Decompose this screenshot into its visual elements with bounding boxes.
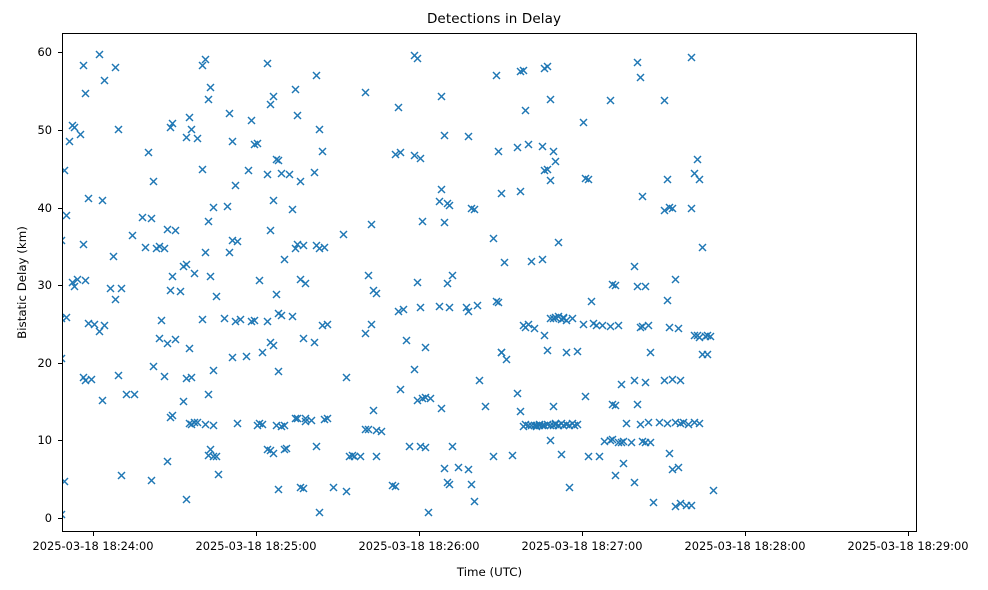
data-point [619, 459, 628, 468]
data-point [519, 66, 528, 75]
data-point [687, 53, 696, 62]
data-point [470, 497, 479, 506]
data-point [611, 471, 620, 480]
data-point [413, 54, 422, 63]
data-point [391, 482, 400, 491]
data-point [223, 202, 232, 211]
data-point [421, 343, 430, 352]
data-point [299, 484, 308, 493]
data-point [296, 483, 305, 492]
data-point [114, 371, 123, 380]
data-point [440, 131, 449, 140]
data-point [315, 244, 324, 253]
data-point [581, 174, 590, 183]
y-tick-mark [58, 52, 62, 53]
data-point [559, 314, 568, 323]
data-point [497, 348, 506, 357]
data-point [674, 463, 683, 472]
data-point [315, 125, 324, 134]
data-point [198, 61, 207, 70]
data-point [513, 143, 522, 152]
data-point [500, 258, 509, 267]
data-point [437, 404, 446, 413]
data-point [65, 137, 74, 146]
data-point [272, 155, 281, 164]
y-tick-mark [58, 440, 62, 441]
data-point [209, 452, 218, 461]
data-point [291, 414, 300, 423]
data-point [413, 396, 422, 405]
data-point [201, 420, 210, 429]
data-point [307, 416, 316, 425]
data-point [638, 437, 647, 446]
data-point [676, 419, 685, 428]
y-tick-mark [58, 285, 62, 286]
data-point [445, 303, 454, 312]
data-point [288, 312, 297, 321]
data-point [114, 125, 123, 134]
data-point [209, 421, 218, 430]
data-point [209, 366, 218, 375]
data-point [665, 323, 674, 332]
matplotlib-figure: Detections in Delay 2025-03-18 18:24:002… [0, 0, 988, 590]
data-point [443, 279, 452, 288]
data-point [250, 316, 259, 325]
data-point [630, 478, 639, 487]
data-point [282, 444, 291, 453]
data-point [581, 392, 590, 401]
data-point [587, 297, 596, 306]
data-point [100, 76, 109, 85]
data-point [274, 156, 283, 165]
data-point [258, 348, 267, 357]
data-point [497, 348, 506, 357]
data-point [166, 413, 175, 422]
data-point [79, 373, 88, 382]
data-point [62, 236, 66, 245]
x-tick-mark [582, 532, 583, 536]
data-point [416, 303, 425, 312]
data-point [638, 192, 647, 201]
data-point [492, 71, 501, 80]
data-point [646, 348, 655, 357]
data-point [606, 96, 615, 105]
data-point [293, 414, 302, 423]
data-point [350, 452, 359, 461]
data-point [559, 421, 568, 430]
data-point [291, 85, 300, 94]
data-point [179, 397, 188, 406]
data-point [682, 501, 691, 510]
data-point [168, 272, 177, 281]
data-point [551, 157, 560, 166]
data-point [168, 411, 177, 420]
data-point [168, 119, 177, 128]
data-point [73, 275, 82, 284]
data-point [532, 421, 541, 430]
data-point [641, 378, 650, 387]
data-point [617, 438, 626, 447]
data-point [345, 452, 354, 461]
data-point [263, 170, 272, 179]
data-point [277, 169, 286, 178]
data-point [117, 471, 126, 480]
data-point [369, 286, 378, 295]
data-point [312, 442, 321, 451]
data-point [668, 204, 677, 213]
data-point [348, 451, 357, 460]
data-point [554, 421, 563, 430]
data-point [255, 419, 264, 428]
data-point [665, 203, 674, 212]
data-point [361, 88, 370, 97]
data-point [70, 282, 79, 291]
data-point [122, 390, 131, 399]
plot-axes [62, 33, 917, 532]
data-point [62, 510, 66, 519]
data-point [79, 61, 88, 70]
data-point [76, 130, 85, 139]
data-point [584, 452, 593, 461]
data-point [204, 217, 213, 226]
data-point [660, 376, 669, 385]
data-point [554, 421, 563, 430]
data-point [549, 421, 558, 430]
data-point [467, 480, 476, 489]
data-point [540, 331, 549, 340]
data-point [695, 175, 704, 184]
data-point [557, 315, 566, 324]
data-point [274, 309, 283, 318]
data-point [212, 452, 221, 461]
data-point [709, 486, 718, 495]
data-point [617, 380, 626, 389]
data-point [524, 320, 533, 329]
data-point [182, 495, 191, 504]
data-point [81, 376, 90, 385]
data-point [266, 226, 275, 235]
data-point [250, 140, 259, 149]
data-point [160, 244, 169, 253]
data-point [646, 438, 655, 447]
data-point [310, 338, 319, 347]
data-point [185, 344, 194, 353]
data-point [519, 321, 528, 330]
data-point [182, 133, 191, 142]
data-point [87, 375, 96, 384]
data-point [693, 155, 702, 164]
data-point [68, 121, 77, 130]
data-point [521, 420, 530, 429]
data-point [608, 280, 617, 289]
data-point [516, 407, 525, 416]
data-point [684, 420, 693, 429]
data-point [543, 165, 552, 174]
data-point [220, 314, 229, 323]
data-point [301, 417, 310, 426]
data-point [236, 315, 245, 324]
data-point [339, 230, 348, 239]
data-point [665, 449, 674, 458]
data-point [247, 116, 256, 125]
data-point [323, 320, 332, 329]
data-point [244, 166, 253, 175]
data-point [342, 487, 351, 496]
data-point [263, 317, 272, 326]
data-point [361, 425, 370, 434]
data-point [157, 316, 166, 325]
data-point [84, 194, 93, 203]
data-point [301, 414, 310, 423]
data-point [318, 321, 327, 330]
data-point [402, 336, 411, 345]
x-tick-label: 2025-03-18 18:26:00 [359, 539, 480, 553]
data-point [497, 189, 506, 198]
data-point [641, 282, 650, 291]
data-point [187, 420, 196, 429]
data-point [274, 367, 283, 376]
data-point [185, 113, 194, 122]
data-point [668, 375, 677, 384]
data-point [698, 243, 707, 252]
data-point [100, 321, 109, 330]
data-point [272, 290, 281, 299]
data-point [636, 323, 645, 332]
data-point [372, 426, 381, 435]
data-point [668, 465, 677, 474]
data-point [410, 365, 419, 374]
data-point [598, 321, 607, 330]
data-point [342, 373, 351, 382]
y-tick-mark [58, 130, 62, 131]
data-point [464, 307, 473, 316]
data-point [299, 241, 308, 250]
data-point [285, 170, 294, 179]
data-point [147, 214, 156, 223]
data-point [633, 282, 642, 291]
data-point [81, 276, 90, 285]
data-point [527, 421, 536, 430]
data-point [516, 67, 525, 76]
data-point [416, 154, 425, 163]
data-point [128, 231, 137, 240]
data-point [253, 139, 262, 148]
data-point [166, 286, 175, 295]
data-point [584, 175, 593, 184]
data-point [367, 220, 376, 229]
data-point [377, 427, 386, 436]
data-point [79, 240, 88, 249]
data-point [163, 457, 172, 466]
x-tick-mark [256, 532, 257, 536]
data-point [565, 483, 574, 492]
data-point [614, 438, 623, 447]
data-point [312, 241, 321, 250]
data-point [440, 218, 449, 227]
data-point [62, 314, 66, 323]
data-point [416, 442, 425, 451]
data-point [291, 244, 300, 253]
data-point [540, 64, 549, 73]
data-point [209, 203, 218, 212]
x-tick-mark [419, 532, 420, 536]
data-point [549, 314, 558, 323]
data-point [494, 147, 503, 156]
data-point [535, 420, 544, 429]
data-point [364, 425, 373, 434]
data-point [163, 225, 172, 234]
data-point [489, 234, 498, 243]
data-point [323, 414, 332, 423]
data-point [62, 313, 63, 322]
data-point [595, 452, 604, 461]
data-point [546, 436, 555, 445]
data-point [676, 376, 685, 385]
data-point [253, 421, 262, 430]
data-point [405, 442, 414, 451]
data-point [329, 483, 338, 492]
data-point [312, 71, 321, 80]
data-point [206, 445, 215, 454]
data-point [98, 196, 107, 205]
data-point [538, 142, 547, 151]
data-point [535, 421, 544, 430]
data-point [443, 199, 452, 208]
data-point [266, 338, 275, 347]
data-point [660, 206, 669, 215]
data-point [361, 329, 370, 338]
data-point [543, 420, 552, 429]
data-point [269, 449, 278, 458]
data-point [424, 508, 433, 517]
data-point [372, 289, 381, 298]
data-point [687, 501, 696, 510]
x-axis-label: Time (UTC) [62, 565, 917, 579]
data-point [690, 418, 699, 427]
data-point [212, 292, 221, 301]
x-tick-label: 2025-03-18 18:29:00 [848, 539, 969, 553]
data-point [679, 418, 688, 427]
data-point [299, 334, 308, 343]
data-point [231, 317, 240, 326]
data-point [301, 279, 310, 288]
data-point [62, 313, 71, 322]
data-point [530, 324, 539, 333]
data-point [508, 451, 517, 460]
data-point [470, 205, 479, 214]
data-point [367, 320, 376, 329]
data-point [187, 125, 196, 134]
data-point [179, 262, 188, 271]
data-point [521, 323, 530, 332]
data-point [155, 242, 164, 251]
data-point [62, 477, 69, 486]
data-point [671, 275, 680, 284]
data-point [149, 362, 158, 371]
data-point [464, 132, 473, 141]
data-point [443, 478, 452, 487]
data-point [622, 419, 631, 428]
data-point [549, 402, 558, 411]
data-point [318, 147, 327, 156]
data-point [606, 322, 615, 331]
data-point [138, 213, 147, 222]
data-point [266, 100, 275, 109]
data-point [636, 420, 645, 429]
data-point [671, 418, 680, 427]
data-point [543, 62, 552, 71]
data-point [258, 420, 267, 429]
data-point [540, 166, 549, 175]
data-point [163, 339, 172, 348]
data-point [70, 123, 79, 132]
data-point [369, 406, 378, 415]
data-point [592, 321, 601, 330]
data-point [198, 165, 207, 174]
data-point [551, 420, 560, 429]
data-point [611, 281, 620, 290]
data-point [663, 419, 672, 428]
data-point [565, 421, 574, 430]
data-point [695, 333, 704, 342]
data-point [426, 394, 435, 403]
data-point [109, 252, 118, 261]
y-tick-mark [58, 363, 62, 364]
data-point [228, 236, 237, 245]
data-point [579, 320, 588, 329]
data-point [269, 92, 278, 101]
data-point [690, 169, 699, 178]
data-point [644, 418, 653, 427]
data-point [228, 137, 237, 146]
x-tick-label: 2025-03-18 18:25:00 [196, 539, 317, 553]
data-point [187, 373, 196, 382]
data-point [524, 140, 533, 149]
data-point [502, 355, 511, 364]
data-point [68, 278, 77, 287]
data-point [649, 498, 658, 507]
data-point [171, 335, 180, 344]
data-point [320, 415, 329, 424]
data-point [440, 464, 449, 473]
data-point [95, 50, 104, 59]
data-point [540, 421, 549, 430]
data-point [233, 419, 242, 428]
data-point [410, 151, 419, 160]
data-point [554, 312, 563, 321]
data-point [421, 443, 430, 452]
data-point [396, 385, 405, 394]
data-point [589, 319, 598, 328]
data-point [204, 451, 213, 460]
data-point [532, 422, 541, 431]
data-point [62, 354, 66, 363]
data-point [701, 332, 710, 341]
data-point [388, 481, 397, 490]
data-point [543, 346, 552, 355]
data-point [130, 390, 139, 399]
data-point [437, 92, 446, 101]
data-point [193, 418, 202, 427]
data-point [573, 420, 582, 429]
data-point [554, 238, 563, 247]
x-tick-mark [745, 532, 746, 536]
data-point [242, 352, 251, 361]
data-point [263, 59, 272, 68]
data-point [655, 418, 664, 427]
data-point [141, 243, 150, 252]
data-point [481, 402, 490, 411]
